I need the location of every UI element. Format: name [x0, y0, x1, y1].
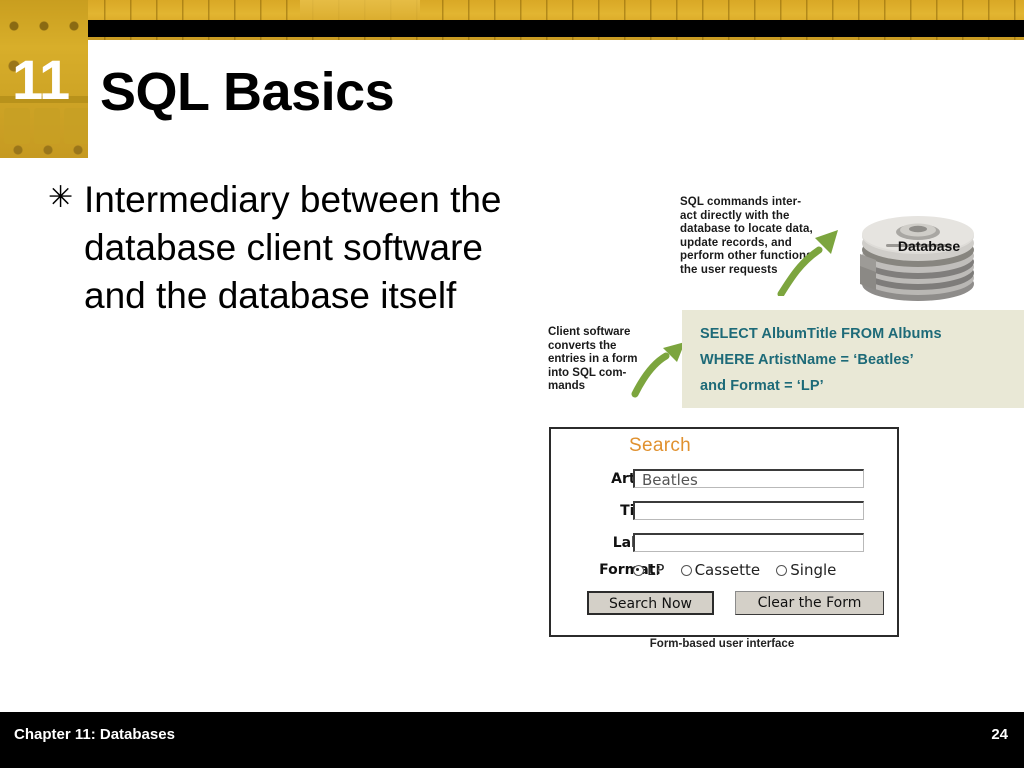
footer-chapter-label: Chapter 11: Databases — [14, 726, 175, 743]
form-row-title: Title: — [551, 499, 897, 523]
radio-option-single-label: Single — [790, 561, 836, 579]
sql-statement-box: SELECT AlbumTitle FROM Albums WHERE Arti… — [682, 310, 1024, 408]
sql-line-2: WHERE ArtistName = ‘Beatles’ — [700, 352, 914, 368]
artist-input-value: Beatles — [635, 471, 863, 488]
search-form-heading: Search — [629, 435, 691, 457]
sql-flow-figure: SQL commands inter-act directly with the… — [530, 188, 1024, 658]
radio-option-single[interactable]: Single — [776, 560, 836, 580]
radio-unselected-icon — [681, 565, 692, 576]
title-input-value — [635, 503, 863, 504]
green-arrow-up-right-icon — [775, 220, 847, 296]
artist-input[interactable]: Beatles — [633, 469, 864, 488]
slide: 11 SQL Basics ✳ Intermediary between the… — [0, 0, 1024, 768]
radio-option-lp-label: LP — [647, 561, 664, 579]
chapter-number: 11 — [12, 52, 88, 108]
disk-stack-label: Database — [879, 238, 979, 254]
label-input-value — [635, 535, 863, 536]
circuit-pads-icon — [4, 108, 30, 144]
clear-form-button[interactable]: Clear the Form — [735, 591, 884, 615]
form-row-label: Label: — [551, 531, 897, 555]
sql-line-3: and Format = ‘LP’ — [700, 378, 824, 394]
form-row-artist: Artist: Beatles — [551, 467, 897, 491]
database-disk-stack-icon: Database — [850, 196, 990, 306]
search-now-button[interactable]: Search Now — [587, 591, 714, 615]
form-figure-caption: Form-based user interface — [549, 638, 895, 650]
page-title: SQL Basics — [100, 63, 700, 121]
chapter-number-block: 11 — [0, 0, 88, 158]
bullet-item-label: Intermediary between the database client… — [84, 176, 518, 320]
radio-option-cassette-label: Cassette — [695, 561, 761, 579]
form-button-row: Search Now Clear the Form — [587, 591, 887, 617]
figure-caption-client-software: Client software converts the entries in … — [548, 326, 640, 394]
green-arrow-up-right-icon-2 — [630, 336, 690, 398]
footer-bar: Chapter 11: Databases 24 — [0, 712, 1024, 768]
search-form-panel: Search Artist: Beatles Title: Label: — [549, 427, 899, 637]
radio-option-cassette[interactable]: Cassette — [681, 560, 761, 580]
footer-page-number: 24 — [991, 726, 1008, 743]
label-input[interactable] — [633, 533, 864, 552]
starburst-bullet-icon: ✳ — [48, 176, 84, 320]
radio-selected-icon — [633, 565, 644, 576]
radio-unselected-icon-2 — [776, 565, 787, 576]
sql-line-1: SELECT AlbumTitle FROM Albums — [700, 326, 942, 342]
radio-option-lp[interactable]: LP — [633, 560, 664, 580]
title-input[interactable] — [633, 501, 864, 520]
format-radio-group: LP Cassette Single — [633, 560, 848, 581]
form-row-format: Format: LP Cassette Single — [551, 560, 897, 582]
title-divider-bar — [88, 20, 1024, 37]
bullet-list-item: ✳ Intermediary between the database clie… — [48, 176, 518, 320]
